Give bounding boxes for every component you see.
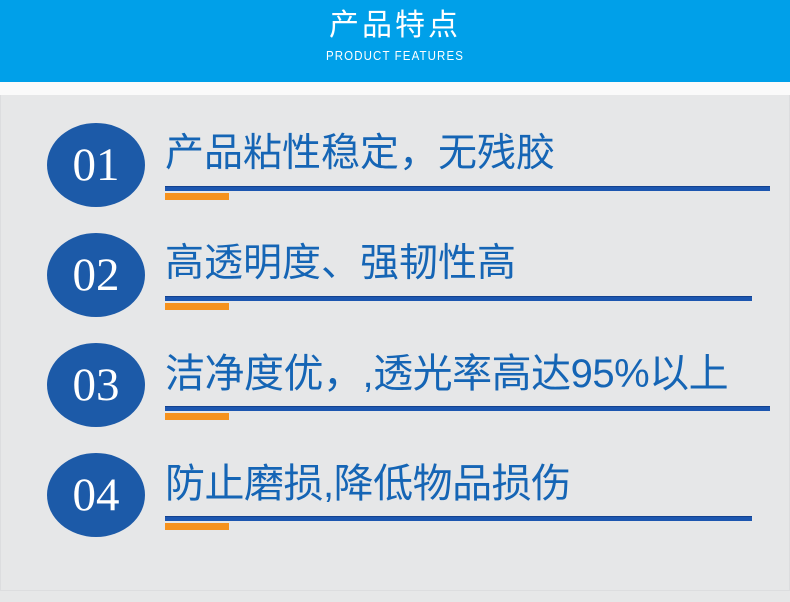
feature-text: 防止磨损,降低物品损伤: [165, 452, 780, 516]
feature-underline: [165, 516, 752, 521]
feature-item: 02 高透明度、强韧性高: [0, 220, 790, 330]
feature-text: 产品粘性稳定，无残胶: [165, 122, 780, 186]
feature-underline: [165, 296, 752, 301]
feature-underline: [165, 406, 770, 411]
page-bottom-divider: [0, 590, 790, 591]
product-features-page: 产品特点 PRODUCT FEATURES 01 产品粘性稳定，无残胶 02 高…: [0, 0, 790, 602]
feature-number-badge: 04: [47, 453, 145, 537]
feature-underline: [165, 186, 770, 191]
feature-item: 03 洁净度优，,透光率高达95%以上: [0, 330, 790, 440]
feature-item: 04 防止磨损,降低物品损伤: [0, 440, 790, 550]
feature-text: 高透明度、强韧性高: [165, 232, 780, 296]
page-subtitle: PRODUCT FEATURES: [326, 48, 464, 64]
feature-number-badge: 02: [47, 233, 145, 317]
feature-accent-bar: [165, 303, 229, 310]
feature-item: 01 产品粘性稳定，无残胶: [0, 110, 790, 220]
feature-accent-bar: [165, 193, 229, 200]
feature-number-badge: 01: [47, 123, 145, 207]
feature-number-badge: 03: [47, 343, 145, 427]
feature-text: 洁净度优，,透光率高达95%以上: [165, 342, 780, 406]
header-divider-band: [0, 82, 790, 95]
page-title: 产品特点: [329, 9, 461, 43]
feature-accent-bar: [165, 523, 229, 530]
page-header: 产品特点 PRODUCT FEATURES: [0, 0, 790, 82]
feature-accent-bar: [165, 413, 229, 420]
